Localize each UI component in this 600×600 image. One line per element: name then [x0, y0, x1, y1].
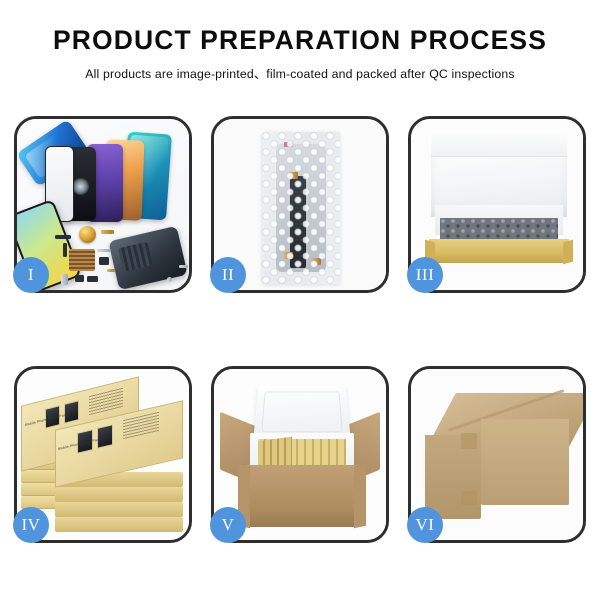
- step-panel-4: Mobile Phone Spare Parts Mobile Phone Sp…: [14, 366, 192, 543]
- foam-cooler-lid: [253, 385, 351, 440]
- product-preparation-infographic: PRODUCT PREPARATION PROCESS All products…: [0, 0, 600, 600]
- carton-right-face: [481, 419, 569, 505]
- kraft-tray-base: [429, 239, 569, 263]
- box-stack-front-4: [55, 517, 183, 532]
- connector-part: [55, 235, 71, 239]
- carton-corner-tab-bottom: [461, 491, 477, 505]
- screw-part: [167, 277, 172, 282]
- step-panel-3: III: [408, 116, 586, 293]
- header: PRODUCT PREPARATION PROCESS All products…: [0, 0, 600, 82]
- flex-cable-part: [101, 230, 114, 234]
- antenna-part: [107, 269, 115, 272]
- step-badge-2: II: [210, 257, 246, 293]
- foam-lid-flap: [431, 131, 567, 157]
- step-badge-3: III: [407, 257, 443, 293]
- button-part: [63, 243, 67, 257]
- earpiece-part: [87, 276, 98, 282]
- step-panel-5: V: [211, 366, 389, 543]
- step-panel-6: VI: [408, 366, 586, 543]
- step-panel-2: II: [211, 116, 389, 293]
- speaker-coil-part: [79, 226, 96, 243]
- phone-back-cover-open: [108, 226, 187, 290]
- bubble-wrap-bag: [262, 132, 340, 284]
- step-badge-4: IV: [13, 507, 49, 543]
- step-panel-1: I: [14, 116, 192, 293]
- carton-corner-tab-top: [461, 433, 477, 449]
- process-steps-grid: I II: [14, 116, 586, 543]
- camera-module-part: [99, 257, 109, 265]
- bubble-texture: [262, 132, 340, 284]
- box-stack-front-2: [55, 487, 183, 502]
- screwdriver-part: [179, 265, 188, 268]
- bracket-part: [97, 249, 111, 252]
- sim-tray-part: [61, 274, 68, 285]
- page-title: PRODUCT PREPARATION PROCESS: [0, 27, 600, 55]
- carton-body: [246, 465, 358, 527]
- page-subtitle: All products are image-printed、film-coat…: [0, 64, 600, 82]
- vibrator-part: [75, 275, 84, 282]
- step-badge-6: VI: [407, 507, 443, 543]
- chip-array-part: [69, 249, 95, 271]
- step-badge-1: I: [13, 257, 49, 293]
- box-stack-front-3: [55, 502, 183, 517]
- step-badge-5: V: [210, 507, 246, 543]
